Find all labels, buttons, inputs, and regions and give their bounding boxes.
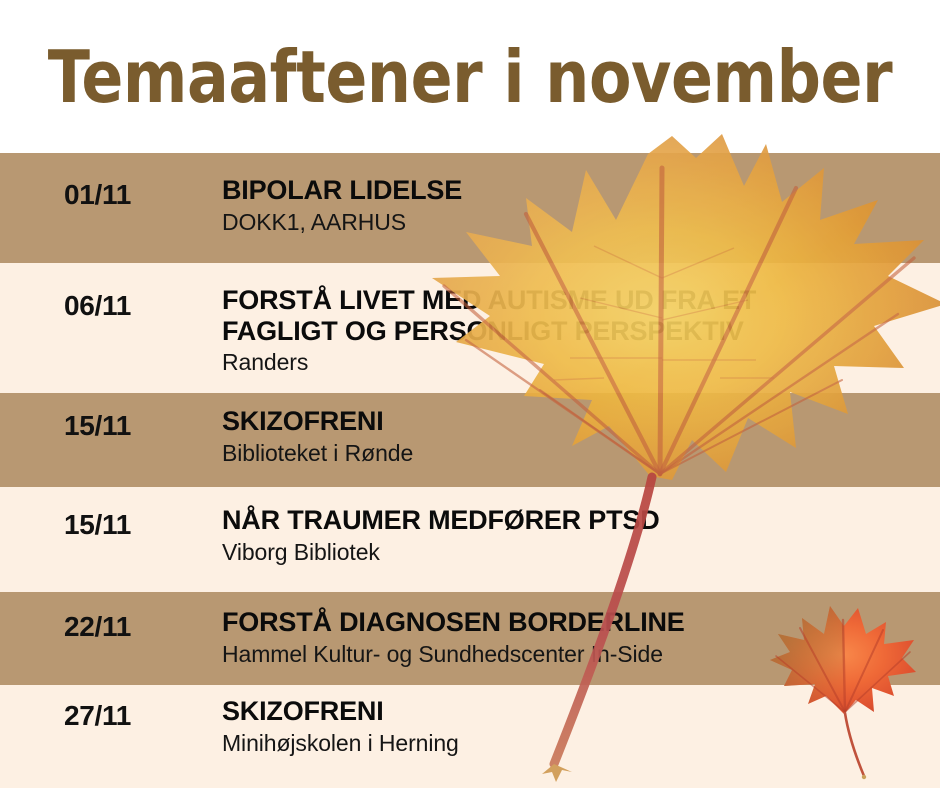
event-date: 15/11: [64, 509, 131, 541]
event-location: Biblioteket i Rønde: [222, 440, 413, 468]
schedule-row[interactable]: 06/11 FORSTÅ LIVET MED AUTISME UD FRA ET…: [0, 263, 940, 393]
event-location: Viborg Bibliotek: [222, 539, 660, 567]
poster-canvas: Temaaftener i november 01/11 BIPOLAR LID…: [0, 0, 940, 788]
event-date: 01/11: [64, 179, 131, 211]
schedule-row[interactable]: 22/11 FORSTÅ DIAGNOSEN BORDERLINE Hammel…: [0, 592, 940, 685]
event-title-line: FORSTÅ DIAGNOSEN BORDERLINE: [222, 607, 685, 638]
event-date: 27/11: [64, 700, 131, 732]
event-date: 15/11: [64, 410, 131, 442]
event-body: SKIZOFRENI Minihøjskolen i Herning: [222, 696, 459, 757]
event-body: SKIZOFRENI Biblioteket i Rønde: [222, 406, 413, 467]
event-body: FORSTÅ DIAGNOSEN BORDERLINE Hammel Kultu…: [222, 607, 685, 668]
event-title-line: FORSTÅ LIVET MED AUTISME UD FRA ET: [222, 285, 756, 316]
event-body: FORSTÅ LIVET MED AUTISME UD FRA ET FAGLI…: [222, 285, 756, 377]
event-title-line: BIPOLAR LIDELSE: [222, 175, 462, 206]
event-location: Minihøjskolen i Herning: [222, 730, 459, 758]
event-location: Randers: [222, 349, 756, 377]
schedule-row[interactable]: 27/11 SKIZOFRENI Minihøjskolen i Herning: [0, 685, 940, 788]
schedule-row[interactable]: 15/11 NÅR TRAUMER MEDFØRER PTSD Viborg B…: [0, 487, 940, 592]
event-date: 06/11: [64, 290, 131, 322]
event-title-line: NÅR TRAUMER MEDFØRER PTSD: [222, 505, 660, 536]
event-title-line: SKIZOFRENI: [222, 696, 459, 727]
schedule-row[interactable]: 15/11 SKIZOFRENI Biblioteket i Rønde: [0, 393, 940, 487]
event-title-line: FAGLIGT OG PERSONLIGT PERSPEKTIV: [222, 316, 756, 347]
schedule-list: 01/11 BIPOLAR LIDELSE DOKK1, AARHUS 06/1…: [0, 0, 940, 788]
event-body: BIPOLAR LIDELSE DOKK1, AARHUS: [222, 175, 462, 236]
event-location: Hammel Kultur- og Sundhedscenter In-Side: [222, 641, 685, 669]
schedule-row[interactable]: 01/11 BIPOLAR LIDELSE DOKK1, AARHUS: [0, 153, 940, 263]
event-location: DOKK1, AARHUS: [222, 209, 462, 237]
event-title-line: SKIZOFRENI: [222, 406, 413, 437]
event-body: NÅR TRAUMER MEDFØRER PTSD Viborg Bibliot…: [222, 505, 660, 566]
event-date: 22/11: [64, 611, 131, 643]
